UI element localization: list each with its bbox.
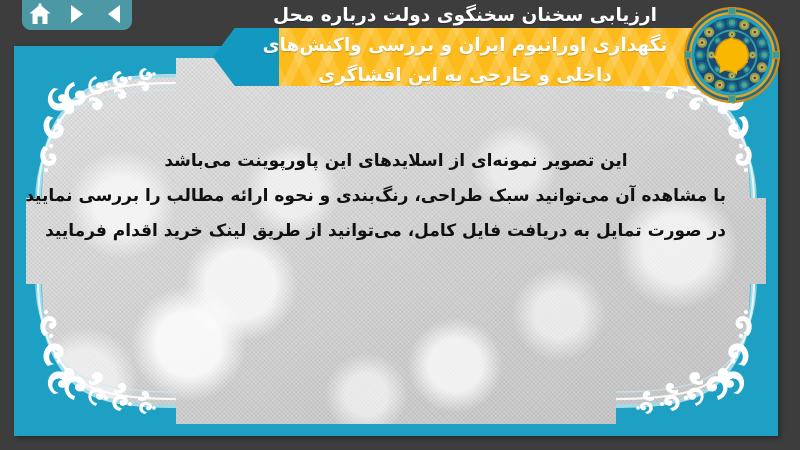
slide-frame: این تصویر نمونه‌ای از اسلایدهای این پاور… bbox=[14, 46, 778, 436]
previous-slide-button[interactable] bbox=[101, 2, 127, 26]
slide-body-text: این تصویر نمونه‌ای از اسلایدهای این پاور… bbox=[66, 144, 726, 249]
ornament-corner-bottom-right bbox=[616, 284, 766, 424]
slide-viewer: ارزیابی سخنان سخنگوی دولت درباره محل نگه… bbox=[0, 0, 800, 450]
body-line-1: این تصویر نمونه‌ای از اسلایدهای این پاور… bbox=[66, 144, 726, 179]
body-line-2: با مشاهده آن می‌توانید سبک طراحی، رنگ‌بن… bbox=[66, 179, 726, 214]
home-icon bbox=[28, 3, 52, 26]
home-button[interactable] bbox=[27, 2, 53, 26]
banner-title-line-1: ارزیابی سخنان سخنگوی دولت درباره محل bbox=[250, 1, 680, 31]
next-slide-button[interactable] bbox=[64, 2, 90, 26]
ornament-corner-bottom-left bbox=[26, 284, 176, 424]
body-line-3: در صورت تمایل به دریافت فایل کامل، می‌تو… bbox=[66, 214, 726, 249]
slide-canvas: این تصویر نمونه‌ای از اسلایدهای این پاور… bbox=[26, 58, 766, 424]
triangle-left-icon bbox=[104, 3, 124, 25]
navigation-bar bbox=[22, 0, 132, 30]
triangle-right-icon bbox=[67, 3, 87, 25]
